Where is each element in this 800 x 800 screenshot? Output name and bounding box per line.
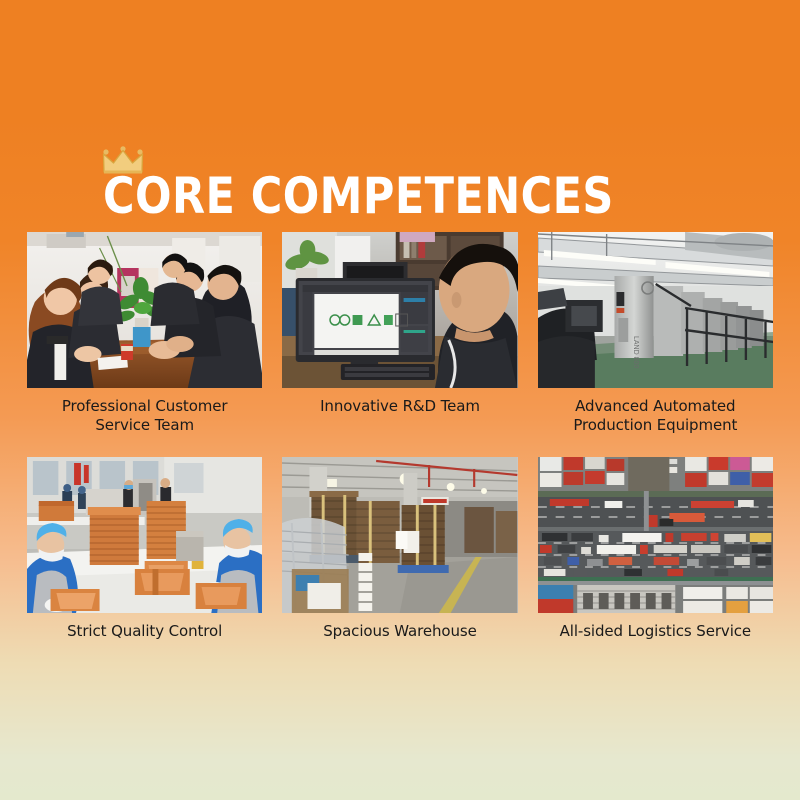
card-caption: All-sided Logistics Service	[560, 613, 751, 645]
competence-grid-row-2: Strict Quality Control	[0, 451, 800, 645]
page-title: CORE COMPETENCES	[103, 172, 614, 220]
caption-line-1: Strict Quality Control	[67, 622, 222, 640]
caption-line-1: Spacious Warehouse	[323, 622, 476, 640]
caption-line-1: Innovative R&D Team	[320, 397, 480, 415]
caption-line-1: Professional Customer	[62, 397, 228, 415]
svg-text:LAND 800: LAND 800	[632, 336, 639, 368]
card-caption: Strict Quality Control	[67, 613, 222, 645]
card-caption: Innovative R&D Team	[320, 388, 480, 420]
competence-card-warehouse[interactable]: Spacious Warehouse	[282, 451, 517, 645]
warehouse-photo	[282, 457, 517, 613]
caption-line-1: All-sided Logistics Service	[560, 622, 751, 640]
printing-press-photo: LAND 800	[538, 232, 773, 388]
quality-inspection-photo	[27, 457, 262, 613]
title-group: CORE COMPETENCES	[103, 146, 697, 220]
competence-card-logistics[interactable]: All-sided Logistics Service	[538, 451, 773, 645]
competence-card-quality-control[interactable]: Strict Quality Control	[27, 451, 262, 645]
caption-line-1: Advanced Automated	[575, 397, 735, 415]
meeting-room-photo	[27, 232, 262, 388]
card-caption: Professional Customer Service Team	[62, 388, 228, 439]
competence-card-rd-team[interactable]: Innovative R&D Team	[282, 232, 517, 439]
competence-card-customer-service[interactable]: Professional Customer Service Team	[27, 232, 262, 439]
caption-line-2: Service Team	[95, 416, 194, 434]
caption-line-2: Production Equipment	[573, 416, 737, 434]
competence-card-production-equipment[interactable]: LAND 800 Advanced Automated Production E…	[538, 232, 773, 439]
page-header: CORE COMPETENCES	[0, 120, 800, 220]
card-caption: Spacious Warehouse	[323, 613, 476, 645]
card-caption: Advanced Automated Production Equipment	[573, 388, 737, 439]
logistics-aerial-photo	[538, 457, 773, 613]
designer-at-monitor-photo	[282, 232, 517, 388]
competence-grid-row-1: Professional Customer Service Team	[0, 232, 800, 439]
